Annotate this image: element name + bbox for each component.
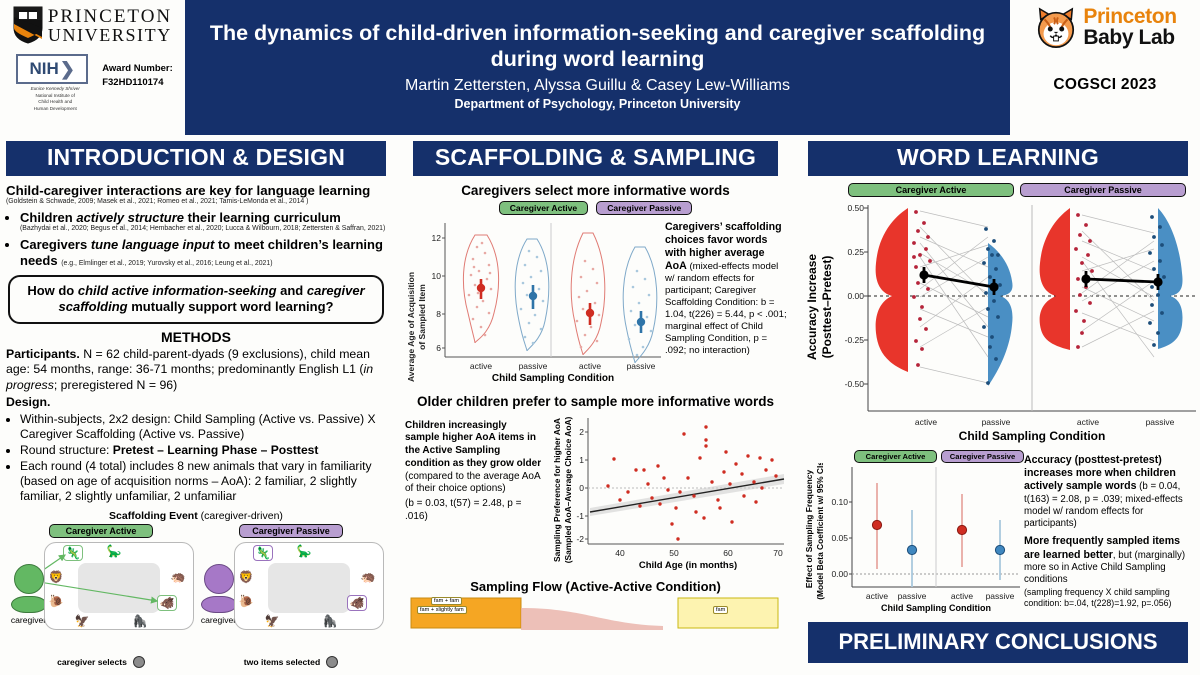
svg-text:50: 50 [669, 548, 679, 558]
wl-note-stats-2: (sampling frequency X child sampling con… [1024, 587, 1194, 609]
freq-panel-label-passive: Caregiver Passive [941, 450, 1024, 463]
aoa-violin-svg: Average Age of Acquisition of Sampled It… [403, 217, 665, 387]
svg-text:Child Age (in months): Child Age (in months) [639, 560, 737, 571]
chart2-area: Children increasingly sample higher AoA … [403, 412, 788, 577]
intro-lead-statement: Child-caregiver interactions are key for… [6, 183, 386, 198]
bullet1-citation: (Bazhydai et al., 2020; Begus et al., 20… [20, 225, 386, 234]
svg-text:active: active [1077, 417, 1099, 427]
bullet2-emphasis: tune language input [91, 237, 215, 252]
svg-text:70: 70 [773, 548, 783, 558]
round-structure-bold: Pretest – Learning Phase – Posttest [113, 443, 319, 457]
animal-snail-icon: 🐌 [49, 595, 64, 607]
poster-root: PRINCETON UNIVERSITY NIH❯ Eunice Kennedy… [0, 0, 1200, 675]
two-items-selected-label: two items selected [244, 657, 320, 667]
column-word-learning: WORD LEARNING Caregiver Active Caregiver… [796, 135, 1200, 675]
accuracy-panel-labels: Caregiver Active Caregiver Passive [802, 183, 1194, 197]
conference-label: COGSCI 2023 [1053, 76, 1156, 94]
princeton-wordmark: PRINCETON UNIVERSITY [48, 7, 172, 44]
caregiver-selects-label: caregiver selects [57, 657, 127, 667]
svg-text:12: 12 [432, 233, 442, 243]
chart2-note-rest: (compared to the average AoA of their ch… [405, 471, 540, 495]
svg-text:(Model Beta Coefficient w/ 95%: (Model Beta Coefficient w/ 95% CIs) [815, 463, 825, 600]
intro-bullet-list: Children actively structure their learni… [6, 210, 386, 268]
animal-kiwi-bird-icon-p: 🦅 [265, 615, 280, 627]
chart1-side-note: Caregivers’ scaffolding choices favor wo… [665, 217, 788, 357]
diagram-footer-passive: two items selected [199, 656, 384, 668]
svg-text:8: 8 [436, 309, 441, 319]
animal-boar-icon: 🐗 [157, 595, 178, 611]
flow-tag-fam-fam: fam + fam [431, 597, 462, 605]
svg-text:0: 0 [579, 483, 584, 493]
age-scatter-svg: Sampling Preference for higher AoA (Samp… [548, 412, 788, 572]
diagram-title-sub: (caregiver-driven) [198, 510, 283, 522]
svg-text:passive: passive [898, 591, 927, 601]
baby-lab-wordmark: Princeton Baby Lab [1083, 7, 1176, 48]
intro-bullet-1: Children actively structure their learni… [20, 210, 386, 234]
chart1-legend: Caregiver Active Caregiver Passive [403, 201, 788, 215]
svg-text:active: active [866, 591, 888, 601]
princeton-university-logo: PRINCETON UNIVERSITY [13, 6, 172, 44]
header-right-logos: Princeton Baby Lab COGSCI 2023 [1010, 0, 1200, 135]
animal-snail-icon-p: 🐌 [239, 595, 254, 607]
chart1-area: Average Age of Acquisition of Sampled It… [403, 217, 788, 392]
section-header-conclusions: PRELIMINARY CONCLUSIONS [808, 622, 1188, 663]
panel-label-caregiver-active: Caregiver Active [848, 183, 1014, 197]
aoa-violin-chart: Average Age of Acquisition of Sampled It… [403, 217, 665, 392]
word-learning-notes: Accuracy (posttest-pretest) increases mo… [1024, 450, 1194, 609]
svg-text:1: 1 [579, 455, 584, 465]
bullet1-emphasis: actively structure [76, 210, 184, 225]
svg-text:passive: passive [1146, 417, 1175, 427]
diagram-footer-active: caregiver selects [9, 656, 194, 668]
svg-text:-2: -2 [576, 534, 584, 544]
award-label: Award Number: [102, 62, 173, 76]
animal-crocodile-icon: 🦎 [63, 545, 84, 561]
chart1-note-rest: (mixed-effects model w/ random effects f… [665, 261, 787, 355]
svg-text:active: active [951, 591, 973, 601]
sampling-frequency-svg: Effect of Sampling Frequency (Model Beta… [802, 463, 1024, 613]
svg-text:0.10: 0.10 [831, 497, 848, 507]
legend-caregiver-passive: Caregiver Passive [596, 201, 692, 215]
column-scaffolding-sampling: SCAFFOLDING & SAMPLING Caregivers select… [392, 135, 796, 675]
design-label-text: Design. [6, 395, 50, 409]
cat-face-icon [1033, 6, 1079, 50]
chart2-title: Older children prefer to sample more inf… [403, 394, 788, 409]
svg-text:0.50: 0.50 [847, 203, 864, 213]
frequency-panel-labels: Caregiver Active Caregiver Passive [802, 450, 1024, 463]
lab-name-line1: Princeton [1083, 7, 1176, 28]
animal-crocodile-icon-p: 🦎 [253, 545, 274, 561]
princeton-baby-lab-logo: Princeton Baby Lab [1033, 6, 1176, 50]
sampling-flow-diagram: fam + fam fam + slightly fam fam [403, 596, 788, 630]
nih-logo-icon: NIH❯ [16, 54, 88, 84]
svg-text:2: 2 [579, 427, 584, 437]
chart2-note-bold: Children increasingly sample higher AoA … [405, 420, 541, 469]
animal-kiwi-bird-icon: 🦅 [75, 615, 90, 627]
poster-body: INTRODUCTION & DESIGN Child-caregiver in… [0, 135, 1200, 675]
participants-label: Participants. [6, 347, 80, 361]
svg-text:6: 6 [436, 343, 441, 353]
animal-gorilla-icon: 🦍 [133, 615, 148, 627]
svg-text:0.00: 0.00 [831, 569, 848, 579]
animal-boar-icon-p: 🐗 [347, 595, 368, 611]
nih-sub-line1: Eunice Kennedy Shriver [31, 86, 80, 91]
svg-text:(Posttest–Pretest): (Posttest–Pretest) [820, 255, 834, 358]
princeton-line1: PRINCETON [48, 7, 172, 26]
diagram-active-scene: caregiver 🦎 🦕 🦁 🦔 🐌 🐗 🦅 🦍 [9, 542, 194, 654]
diagram-pill-caregiver-active: Caregiver Active [49, 524, 153, 538]
award-number: F32HD110174 [102, 76, 173, 90]
animal-lion-icon-p: 🦁 [239, 571, 254, 583]
svg-text:passive: passive [627, 361, 656, 371]
bullet1-post: their learning curriculum [184, 210, 341, 225]
princeton-line2: UNIVERSITY [48, 26, 172, 44]
svg-text:Effect of Sampling Frequency: Effect of Sampling Frequency [804, 469, 814, 588]
caregiver-head-icon-passive [204, 564, 234, 594]
design-bullet-3: Each round (4 total) includes 8 new anim… [20, 459, 386, 504]
animal-hedgehog-icon-p: 🦔 [361, 571, 376, 583]
svg-text:passive: passive [519, 361, 548, 371]
scaffolding-diagram: Caregiver Active caregiver 🦎 🦕 🦁 [6, 524, 386, 668]
age-scatter-chart: Sampling Preference for higher AoA (Samp… [548, 412, 788, 577]
svg-text:passive: passive [982, 417, 1011, 427]
participants-paragraph: Participants. N = 62 child-parent-dyads … [6, 347, 386, 393]
nih-sub-line4: Human Development [34, 106, 77, 111]
svg-text:Child Sampling Condition: Child Sampling Condition [959, 429, 1106, 443]
nih-funding-block: NIH❯ Eunice Kennedy Shriver National Ins… [12, 54, 173, 113]
svg-text:active: active [579, 361, 601, 371]
svg-text:of Sampled Item: of Sampled Item [417, 283, 427, 349]
svg-text:(Sampled AoA–Average Choice Ao: (Sampled AoA–Average Choice AoA) [563, 416, 573, 563]
svg-text:-0.25: -0.25 [845, 335, 865, 345]
intro-lead-citation: (Goldstein & Schwade, 2009; Masek et al.… [6, 198, 386, 207]
header-left-logos: PRINCETON UNIVERSITY NIH❯ Eunice Kennedy… [0, 0, 185, 135]
animal-gorilla-icon-p: 🦍 [323, 615, 338, 627]
svg-text:40: 40 [615, 548, 625, 558]
svg-text:0.25: 0.25 [847, 247, 864, 257]
svg-text:-1: -1 [576, 511, 584, 521]
svg-text:Average Age of Acquisition: Average Age of Acquisition [406, 272, 416, 382]
design-label: Design. [6, 395, 386, 410]
section-header-introduction: INTRODUCTION & DESIGN [6, 141, 386, 176]
sampling-flow-title: Sampling Flow (Active-Active Condition) [403, 579, 788, 594]
stimulus-array-active: 🦎 🦕 🦁 🦔 🐌 🐗 🦅 🦍 [44, 542, 194, 630]
question-mid: and [277, 283, 307, 298]
legend-caregiver-active: Caregiver Active [499, 201, 589, 215]
diagram-caregiver-passive: Caregiver Passive caregiver 🦎 🦕 🦁 [199, 524, 384, 668]
animal-dinosaur-icon: 🦕 [107, 545, 122, 557]
svg-text:10: 10 [432, 271, 442, 281]
bullet2-pre: Caregivers [20, 237, 91, 252]
svg-text:Child Sampling Condition: Child Sampling Condition [881, 603, 991, 613]
accuracy-raincloud-svg: Accuracy Increase (Posttest–Pretest) 0.5… [802, 197, 1200, 447]
participants-text-2: ; preregistered N = 96) [54, 378, 177, 392]
poster-authors: Martin Zettersten, Alyssa Guillu & Casey… [405, 77, 790, 95]
bullet1-pre: Children [20, 210, 76, 225]
bullet2-citation: (e.g., Elmlinger et al., 2019; Yurovsky … [61, 260, 272, 267]
scaffolding-diagram-title: Scaffolding Event (caregiver-driven) [6, 510, 386, 522]
chart2-note-stats: (b = 0.03, t(57) = 2.48, p = .016) [405, 498, 542, 523]
poster-affiliation: Department of Psychology, Princeton Univ… [455, 97, 741, 111]
svg-text:passive: passive [986, 591, 1015, 601]
svg-text:Child Sampling Condition: Child Sampling Condition [492, 373, 614, 384]
panel-label-caregiver-passive: Caregiver Passive [1020, 183, 1186, 197]
accuracy-raincloud-chart: Accuracy Increase (Posttest–Pretest) 0.5… [802, 197, 1194, 452]
section-header-scaffolding: SCAFFOLDING & SAMPLING [413, 141, 778, 176]
animal-hedgehog-icon: 🦔 [171, 571, 186, 583]
question-pre: How do [27, 283, 78, 298]
nih-wordmark: NIH [30, 59, 59, 79]
column-introduction-design: INTRODUCTION & DESIGN Child-caregiver in… [0, 135, 392, 675]
section-header-word-learning: WORD LEARNING [808, 141, 1188, 176]
flow-tag-fam: fam [713, 606, 728, 614]
nih-sub-line2: National Institute of [36, 93, 75, 98]
center-display-box-passive [268, 563, 350, 613]
caregiver-head-icon [14, 564, 44, 594]
diagram-title-main: Scaffolding Event [109, 510, 198, 522]
svg-text:60: 60 [723, 548, 733, 558]
svg-text:active: active [470, 361, 492, 371]
gray-dot-icon [133, 656, 145, 668]
chevron-right-icon: ❯ [60, 59, 75, 80]
nih-sub-line3: Child Health and [38, 99, 72, 104]
diagram-pill-caregiver-passive: Caregiver Passive [239, 524, 343, 538]
freq-panel-label-active: Caregiver Active [854, 450, 937, 463]
nih-subtitle: Eunice Kennedy Shriver National Institut… [16, 86, 94, 113]
chart1-title: Caregivers select more informative words [403, 183, 788, 198]
design-bullet-2: Round structure: Pretest – Learning Phas… [20, 443, 386, 458]
methods-heading: METHODS [6, 329, 386, 345]
svg-text:0.00: 0.00 [847, 291, 864, 301]
stimulus-array-passive: 🦎 🦕 🦁 🦔 🐌 🐗 🦅 🦍 [234, 542, 384, 630]
animal-dinosaur-icon-p: 🦕 [297, 545, 312, 557]
question-emphasis-1: child active information-seeking [78, 283, 277, 298]
design-bullet-list: Within-subjects, 2x2 design: Child Sampl… [6, 412, 386, 504]
svg-text:Accuracy Increase: Accuracy Increase [805, 253, 819, 359]
award-info: Award Number: F32HD110174 [102, 54, 173, 90]
poster-title: The dynamics of child-driven information… [201, 20, 994, 72]
sampling-frequency-chart: Caregiver Active Caregiver Passive Effec… [802, 450, 1024, 618]
lab-name-line2: Baby Lab [1083, 28, 1176, 49]
svg-text:Sampling Preference for higher: Sampling Preference for higher AoA [552, 418, 562, 562]
bottom-right-area: Caregiver Active Caregiver Passive Effec… [802, 450, 1194, 618]
svg-text:0.05: 0.05 [831, 533, 848, 543]
center-display-box [78, 563, 160, 613]
intro-bullet-2: Caregivers tune language input to meet c… [20, 237, 386, 268]
design-bullet-1: Within-subjects, 2x2 design: Child Sampl… [20, 412, 386, 442]
caregiver-body-icon [11, 596, 47, 613]
wl-note-block-2: More frequently sampled items are learne… [1024, 535, 1194, 608]
gray-dot-icon-2 [326, 656, 338, 668]
chart2-side-note: Children increasingly sample higher AoA … [403, 412, 548, 524]
poster-header: PRINCETON UNIVERSITY NIH❯ Eunice Kennedy… [0, 0, 1200, 135]
caregiver-body-icon-passive [201, 596, 237, 613]
flow-tag-fam-slightly: fam + slightly fam [417, 606, 467, 614]
research-question-box: How do child active information-seeking … [8, 275, 384, 324]
diagram-caregiver-active: Caregiver Active caregiver 🦎 🦕 🦁 [9, 524, 194, 668]
nih-logo-block: NIH❯ Eunice Kennedy Shriver National Ins… [16, 54, 94, 113]
question-post: mutually support word learning? [128, 299, 334, 314]
svg-text:active: active [915, 417, 937, 427]
diagram-passive-scene: caregiver 🦎 🦕 🦁 🦔 🐌 🐗 🦅 🦍 [199, 542, 384, 654]
svg-text:-0.50: -0.50 [845, 379, 865, 389]
animal-lion-icon: 🦁 [49, 571, 64, 583]
princeton-shield-icon [13, 6, 43, 44]
header-title-block: The dynamics of child-driven information… [185, 0, 1010, 135]
